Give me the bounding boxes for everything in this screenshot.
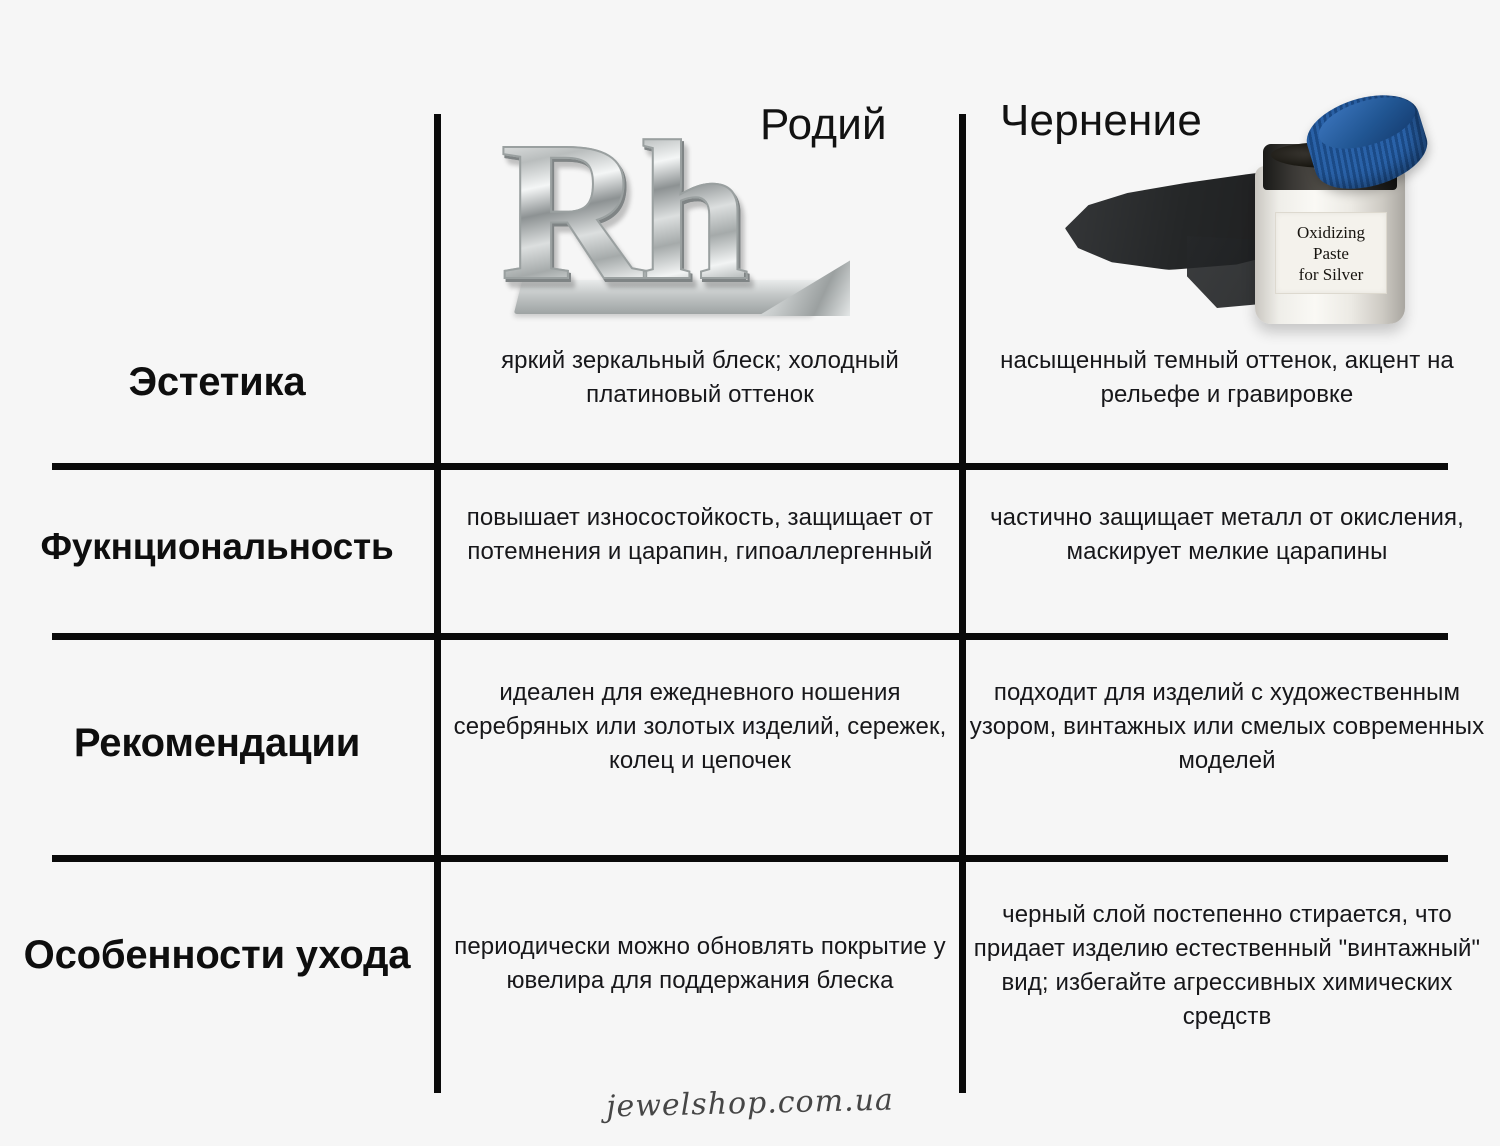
row-divider-3 [52,855,1448,862]
jar-label-line-3: for Silver [1299,264,1364,285]
cell-blackening-care: черный слой постепенно стирается, что пр… [966,898,1488,1034]
column-title-rhodium: Родий [760,100,887,150]
jar-label-line-2: Paste [1313,243,1349,264]
row-label-recommendations: Рекомендации [0,718,434,768]
cell-rhodium-aesthetics: яркий зеркальный блеск; холодный платино… [441,344,959,412]
cell-rhodium-care: периодически можно обновлять покрытие у … [441,930,959,998]
cell-rhodium-recommendations: идеален для ежедневного ношения серебрян… [441,676,959,778]
cell-rhodium-functionality: повышает износостойкость, защищает от по… [441,501,959,569]
paste-jar: Oxidizing Paste for Silver [1251,104,1411,324]
row-divider-2 [52,633,1448,640]
jar-label-line-1: Oxidizing [1297,222,1365,243]
site-watermark: jewelshop.com.ua [0,1068,1500,1140]
row-divider-1 [52,463,1448,470]
jar-label: Oxidizing Paste for Silver [1275,212,1387,294]
cell-blackening-aesthetics: насыщенный темный оттенок, акцент на рел… [966,344,1488,412]
cell-blackening-recommendations: подходит для изделий с художественным уз… [966,676,1488,778]
rh-symbol-text: Rh [500,112,744,312]
rhodium-rh-letters-image: Rh [500,120,840,320]
row-label-functionality: Фукнциональность [0,522,434,572]
row-label-aesthetics: Эстетика [0,357,434,407]
column-title-blackening: Чернение [1000,96,1202,146]
row-label-care-features: Особенности ухода [0,930,434,980]
cell-blackening-functionality: частично защищает металл от окисления, м… [966,501,1488,569]
comparison-table-infographic: Rh Родий Oxidizing Paste for Silver Черн… [0,0,1500,1146]
